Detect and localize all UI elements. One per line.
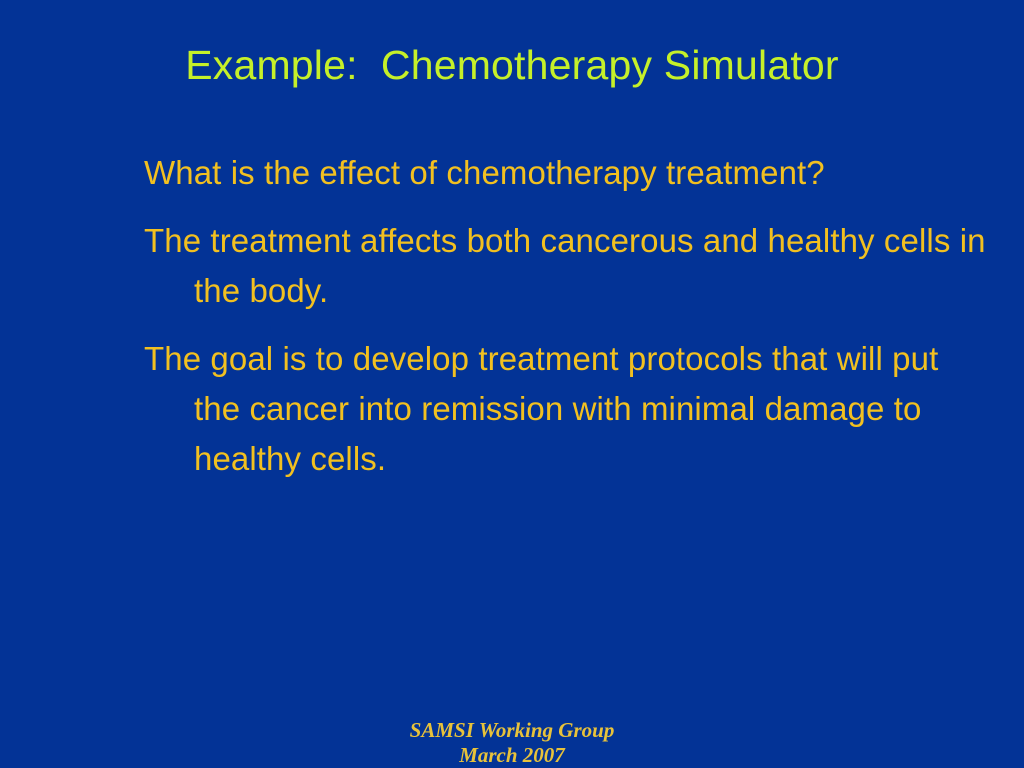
footer-organization: SAMSI Working Group [0,718,1024,743]
slide-footer: SAMSI Working Group March 2007 [0,718,1024,768]
presentation-slide: Example: Chemotherapy Simulator What is … [0,0,1024,768]
body-paragraph-3: The goal is to develop treatment protoco… [144,334,992,484]
body-paragraph-2: The treatment affects both cancerous and… [144,216,992,316]
slide-body: What is the effect of chemotherapy treat… [144,148,992,500]
page-title: Example: Chemotherapy Simulator [0,40,1024,90]
footer-date: March 2007 [0,743,1024,768]
body-paragraph-1: What is the effect of chemotherapy treat… [144,148,992,198]
